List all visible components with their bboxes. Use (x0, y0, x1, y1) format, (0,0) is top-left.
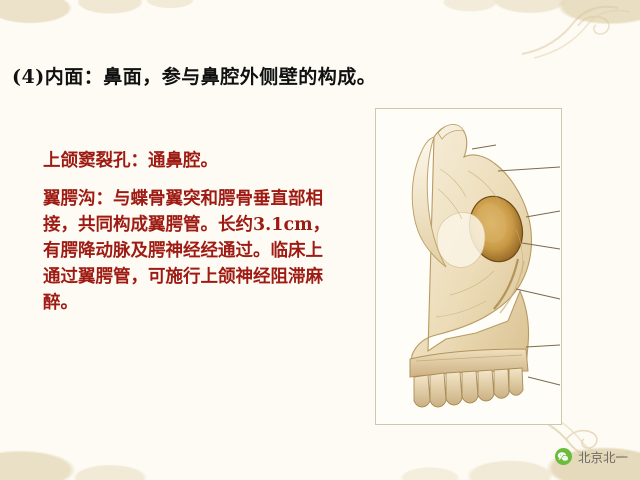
swirl-ornament-top-right-icon (514, 4, 634, 60)
watermark-label: 北京北一 (578, 447, 628, 466)
slide-heading: (4)内面：鼻面，参与鼻腔外侧壁的构成。 (12, 62, 376, 89)
ornament-bottom-left (0, 400, 240, 480)
watermark: 北京北一 (555, 447, 628, 466)
slide-canvas: (4)内面：鼻面，参与鼻腔外侧壁的构成。 上颌窦裂孔：通鼻腔。 翼腭沟：与蝶骨翼… (0, 0, 640, 480)
anatomy-figure (375, 108, 562, 425)
maxilla-medial-surface-illustration (376, 109, 561, 424)
body-paragraph-1: 上颌窦裂孔：通鼻腔。 (43, 148, 333, 174)
ornament-top-right (410, 0, 640, 70)
body-text-block: 上颌窦裂孔：通鼻腔。 翼腭沟：与蝶骨翼突和腭骨垂直部相接，共同构成翼腭管。长约3… (43, 148, 333, 326)
ornament-top-left (0, 0, 210, 58)
body-paragraph-2: 翼腭沟：与蝶骨翼突和腭骨垂直部相接，共同构成翼腭管。长约3.1cm，有腭降动脉及… (43, 186, 333, 316)
wechat-icon (555, 448, 572, 465)
